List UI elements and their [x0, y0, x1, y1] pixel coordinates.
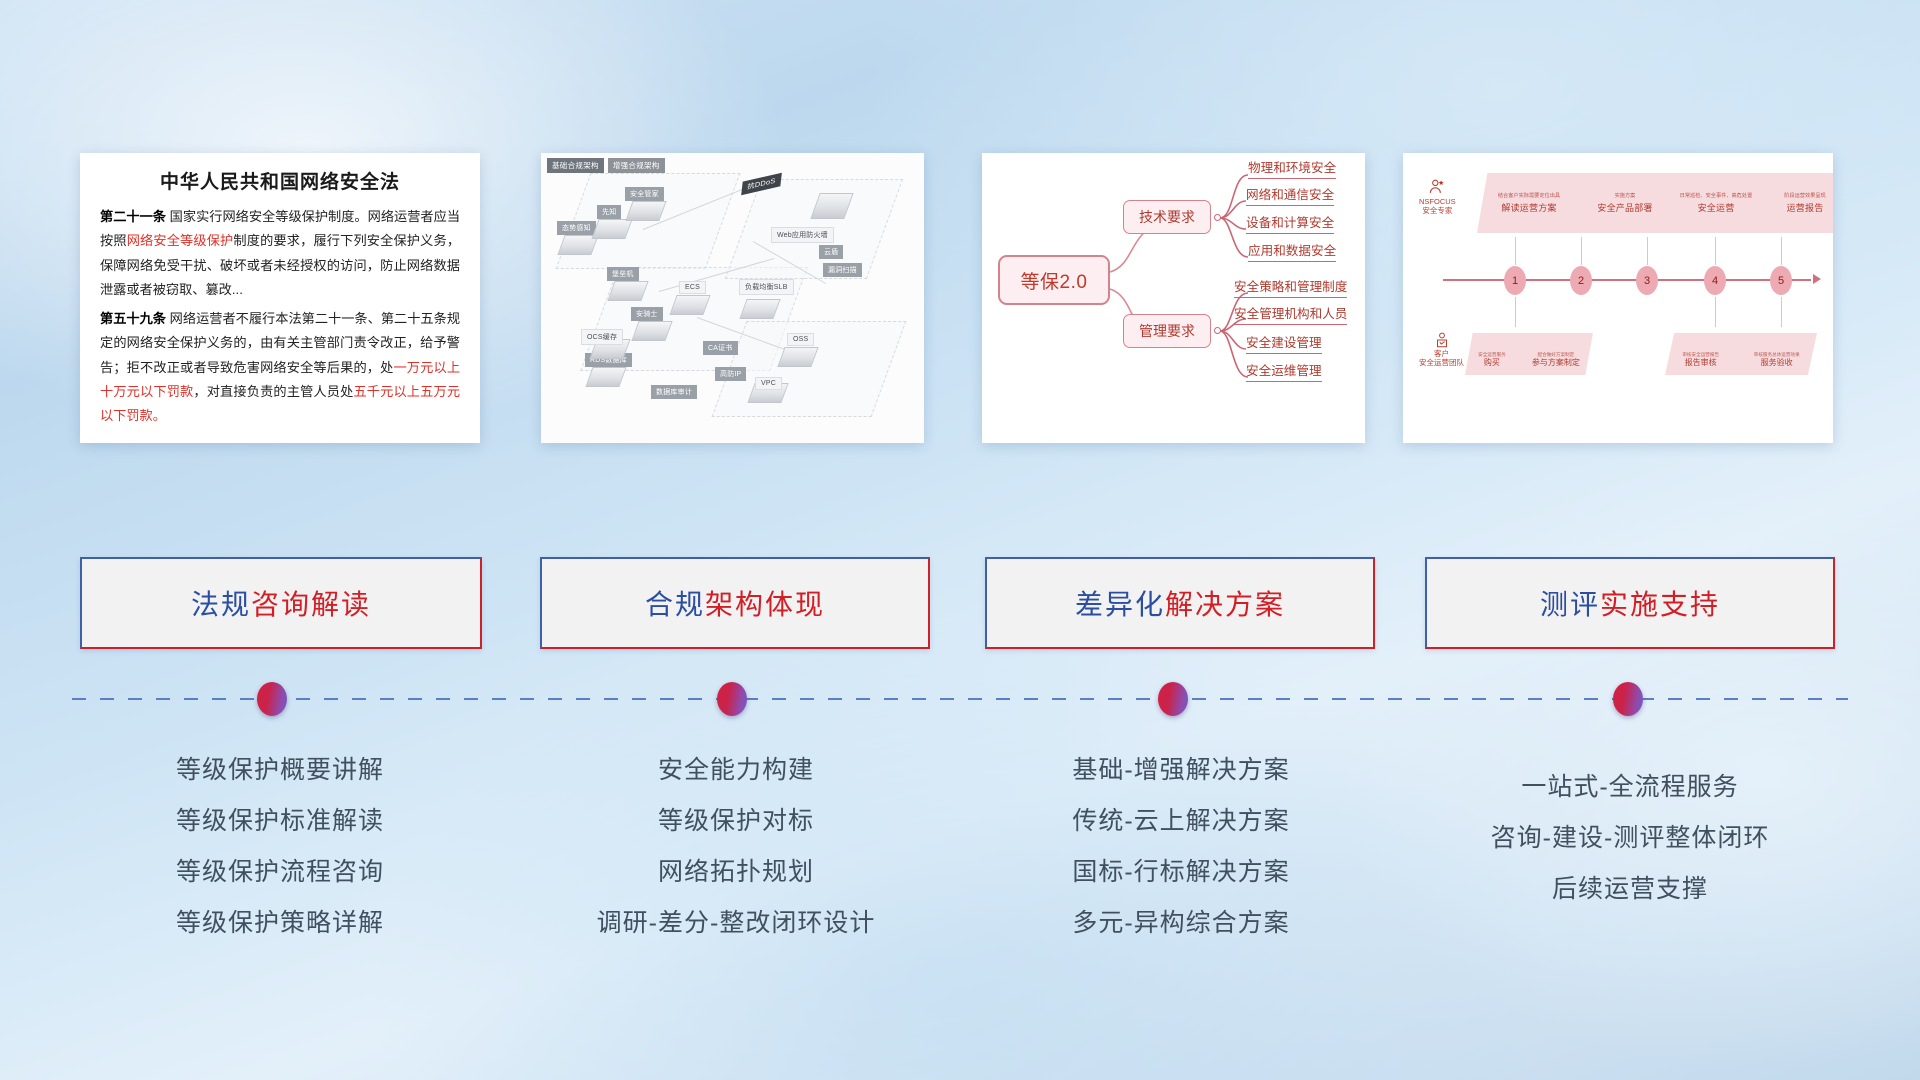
tick-down-4 — [1715, 297, 1716, 327]
header-title-1-blue: 法规 — [191, 589, 251, 620]
card-cloud-architecture: 基础合规架构 增强合规架构 态势感知 先知 — [541, 153, 924, 443]
card-mindmap-dengbao: 等保2.0 技术要求 物理和环境安全 网络和通信安全 设备和计算安全 应用和数据… — [982, 153, 1365, 443]
foot-item-participate: 配合做好方案制定 参与方案制定 — [1532, 352, 1580, 368]
card-service-timeline: NSFOCUS 安全专家 结合客户实际需要定位出具 解读运营方案 实施方案 安全… — [1403, 153, 1833, 443]
node-slb: 负载均衡SLB — [739, 279, 794, 295]
header-boxes-row: 法规咨询解读 合规架构体现 差异化解决方案 测评实施支持 — [0, 557, 1920, 649]
law-article-21: 第二十一条 国家实行网络安全等级保护制度。网络运营者应当按照网络安全等级保护制度… — [100, 205, 460, 303]
list-column-2: 安全能力构建 等级保护对标 网络拓扑规划 调研-差分-整改闭环设计 — [540, 745, 932, 949]
node-bastion-host: 堡垒机 — [607, 267, 639, 281]
header-box-differentiated-solution[interactable]: 差异化解决方案 — [985, 557, 1375, 649]
mindmap-leaf-policy-system: 安全策略和管理制度 — [1234, 280, 1347, 298]
mindmap-leaf-org-personnel: 安全管理机构和人员 — [1234, 307, 1347, 325]
list-item: 等级保护流程咨询 — [80, 847, 480, 898]
article-21-highlight: 网络安全等级保护 — [127, 233, 234, 248]
header-title-4-red: 实施支持 — [1600, 589, 1720, 620]
step-sub-4: 阶段运营效果呈现 — [1784, 192, 1826, 199]
rail-bead-3 — [1158, 682, 1188, 716]
cube-ecs — [669, 295, 710, 315]
article-59-label: 第五十九条 — [100, 311, 166, 326]
cube-bastion — [607, 281, 648, 301]
foot-item-acceptance: 审核服务总体运营效果 服务验收 — [1754, 352, 1800, 368]
node-situational-awareness: 态势感知 — [557, 221, 596, 235]
law-article-59: 第五十九条 网络运营者不履行本法第二十一条、第二十五条规定的网络安全保护义务的，… — [100, 307, 460, 429]
list-item: 咨询-建设-测评整体闭环 — [1424, 813, 1836, 864]
header-title-3-red: 解决方案 — [1165, 589, 1285, 620]
mindmap-dot-technical — [1214, 214, 1221, 221]
law-title: 中华人民共和国网络安全法 — [100, 167, 460, 194]
list-item: 调研-差分-整改闭环设计 — [540, 898, 932, 949]
tick-down-2 — [1515, 297, 1516, 327]
rail-bead-4 — [1613, 682, 1643, 716]
timeline-node-3: 3 — [1636, 266, 1658, 295]
node-cloud-shield: 云盾 — [819, 245, 843, 259]
mindmap-branch-technical: 技术要求 — [1123, 200, 1211, 234]
list-item: 等级保护对标 — [540, 796, 932, 847]
foot-item-acceptance-title: 服务验收 — [1761, 358, 1793, 367]
cube-security-butler — [625, 201, 666, 221]
timeline-dashed-rail — [72, 698, 1848, 700]
service-timeline: NSFOCUS 安全专家 结合客户实际需要定位出具 解读运营方案 实施方案 安全… — [1403, 153, 1833, 443]
node-xianzhi: 先知 — [597, 205, 621, 219]
cube-rds — [585, 367, 626, 387]
header-title-3-blue: 差异化 — [1075, 589, 1165, 620]
list-item: 一站式-全流程服务 — [1424, 762, 1836, 813]
mindmap-leaf-ops-mgmt: 安全运维管理 — [1246, 364, 1322, 382]
header-title-1-red: 咨询解读 — [251, 589, 371, 620]
header-box-compliance-architecture[interactable]: 合规架构体现 — [540, 557, 930, 649]
node-waf: Web应用防火墙 — [771, 227, 834, 243]
timeline-node-5: 5 — [1770, 266, 1792, 295]
step-title-3: 安全运营 — [1698, 201, 1735, 214]
mindmap-dot-management — [1214, 327, 1221, 334]
node-ca-cert: CA证书 — [703, 341, 738, 355]
foot-item-purchase-sub: 安全运营服务 — [1478, 352, 1506, 358]
step-chip-2: 实施方案 安全产品部署 — [1581, 173, 1669, 233]
slide-canvas: 中华人民共和国网络安全法 第二十一条 国家实行网络安全等级保护制度。网络运营者应… — [0, 0, 1920, 1080]
header-title-2-red: 架构体现 — [705, 589, 825, 620]
node-db-audit: 数据库审计 — [651, 385, 697, 399]
tick-up-4 — [1715, 237, 1716, 265]
step-sub-2: 实施方案 — [1615, 192, 1636, 199]
foot-item-participate-title: 参与方案制定 — [1532, 358, 1580, 367]
list-column-3: 基础-增强解决方案 传统-云上解决方案 国标-行标解决方案 多元-异构综合方案 — [985, 745, 1377, 949]
foot-item-report-review-sub: 审核安全运营报告 — [1682, 352, 1719, 358]
architecture-canvas: 态势感知 先知 安全管家 抗DDoS 堡垒机 Web应用防火墙 云盾 漏洞扫描 … — [547, 171, 918, 439]
cube-xianzhi — [591, 219, 632, 239]
header-title-2-blue: 合规 — [645, 589, 705, 620]
list-column-1: 等级保护概要讲解 等级保护标准解读 等级保护流程咨询 等级保护策略详解 — [80, 745, 480, 949]
node-ocs: OCS缓存 — [581, 329, 623, 345]
timeline-foot-left: 安全运营服务 购买 配合做好方案制定 参与方案制定 — [1465, 333, 1593, 375]
timeline-node-2: 2 — [1570, 266, 1592, 295]
list-item: 安全能力构建 — [540, 745, 932, 796]
timeline-node-4: 4 — [1704, 266, 1726, 295]
step-title-4: 运营报告 — [1787, 201, 1824, 214]
step-sub-3: 日常巡检、安全事件、高危处置 — [1680, 192, 1753, 199]
list-item: 国标-行标解决方案 — [985, 847, 1377, 898]
list-item: 基础-增强解决方案 — [985, 745, 1377, 796]
list-item: 传统-云上解决方案 — [985, 796, 1377, 847]
tick-up-5 — [1781, 237, 1782, 265]
mindmap-leaf-construction-mgmt: 安全建设管理 — [1246, 336, 1322, 354]
mindmap-leaf-physical-env: 物理和环境安全 — [1248, 161, 1336, 179]
step-chip-4: 阶段运营效果呈现 运营报告 — [1763, 173, 1833, 233]
article-59-text-b: ，对直接负责的主管人员处 — [193, 384, 353, 399]
node-high-defense-ip: 高防IP — [715, 367, 746, 381]
mindmap-branch-management: 管理要求 — [1123, 314, 1211, 348]
step-title-2: 安全产品部署 — [1597, 201, 1652, 214]
header-title-4-blue: 测评 — [1540, 589, 1600, 620]
mindmap-root-node: 等保2.0 — [998, 255, 1110, 305]
law-text-block: 中华人民共和国网络安全法 第二十一条 国家实行网络安全等级保护制度。网络运营者应… — [80, 153, 480, 439]
node-ecs: ECS — [679, 281, 706, 294]
cards-row: 中华人民共和国网络安全法 第二十一条 国家实行网络安全等级保护制度。网络运营者应… — [0, 153, 1920, 443]
foot-item-report-review: 审核安全运营报告 报告审核 — [1682, 352, 1719, 368]
timeline-foot-right: 审核安全运营报告 报告审核 审核服务总体运营效果 服务验收 — [1665, 333, 1817, 375]
timeline-node-1: 1 — [1504, 266, 1526, 295]
mindmap-leaf-device-compute: 设备和计算安全 — [1246, 216, 1334, 234]
customer-icon — [1433, 331, 1451, 349]
mindmap-leaf-network-comm: 网络和通信安全 — [1246, 188, 1334, 206]
header-box-evaluation-support[interactable]: 测评实施支持 — [1425, 557, 1835, 649]
header-title-2: 合规架构体现 — [645, 583, 825, 623]
node-anqishi: 安骑士 — [631, 307, 663, 321]
step-chip-3: 日常巡检、安全事件、高危处置 安全运营 — [1669, 173, 1763, 233]
node-vpc: VPC — [755, 377, 782, 390]
timeline-top-band: 结合客户实际需要定位出具 解读运营方案 实施方案 安全产品部署 日常巡检、安全事… — [1417, 173, 1819, 233]
header-title-1: 法规咨询解读 — [191, 583, 371, 623]
node-oss: OSS — [787, 333, 814, 346]
customer-role: 客户 — [1434, 349, 1449, 358]
node-security-butler: 安全管家 — [625, 187, 664, 201]
step-chip-1: 结合客户实际需要定位出具 解读运营方案 — [1477, 173, 1581, 233]
rail-bead-2 — [717, 682, 747, 716]
foot-item-purchase: 安全运营服务 购买 — [1478, 352, 1506, 368]
tick-down-5 — [1781, 297, 1782, 327]
list-item: 网络拓扑规划 — [540, 847, 932, 898]
step-title-1: 解读运营方案 — [1501, 201, 1556, 214]
customer-persona: 客户 安全运营团队 — [1419, 331, 1464, 368]
cube-slb — [739, 299, 780, 319]
foot-item-acceptance-sub: 审核服务总体运营效果 — [1754, 352, 1800, 358]
timeline-arrow-icon — [1813, 274, 1821, 284]
list-item: 多元-异构综合方案 — [985, 898, 1377, 949]
cube-oss — [777, 347, 818, 367]
list-item: 等级保护概要讲解 — [80, 745, 480, 796]
tick-up-2 — [1581, 237, 1582, 265]
header-title-4: 测评实施支持 — [1540, 583, 1720, 623]
foot-item-report-review-title: 报告审核 — [1685, 358, 1717, 367]
foot-item-purchase-title: 购买 — [1484, 358, 1500, 367]
customer-sub: 安全运营团队 — [1419, 358, 1464, 367]
mindmap-leaf-app-data: 应用和数据安全 — [1248, 244, 1336, 262]
tick-up-3 — [1647, 237, 1648, 265]
step-sub-1: 结合客户实际需要定位出具 — [1498, 192, 1560, 199]
card-law-document: 中华人民共和国网络安全法 第二十一条 国家实行网络安全等级保护制度。网络运营者应… — [80, 153, 480, 443]
mindmap: 等保2.0 技术要求 物理和环境安全 网络和通信安全 设备和计算安全 应用和数据… — [982, 153, 1365, 443]
list-item: 等级保护标准解读 — [80, 796, 480, 847]
node-vuln-scan: 漏洞扫描 — [823, 263, 862, 277]
tick-up-1 — [1515, 237, 1516, 265]
list-item: 等级保护策略详解 — [80, 898, 480, 949]
header-box-regulation-consulting[interactable]: 法规咨询解读 — [80, 557, 482, 649]
cube-anqishi — [631, 321, 672, 341]
timeline-axis — [1443, 279, 1811, 281]
header-title-3: 差异化解决方案 — [1075, 583, 1285, 623]
foot-item-participate-sub: 配合做好方案制定 — [1532, 352, 1580, 358]
list-item: 后续运营支撑 — [1424, 864, 1836, 915]
architecture-diagram: 基础合规架构 增强合规架构 态势感知 先知 — [541, 153, 924, 443]
rail-bead-1 — [257, 682, 287, 716]
list-column-4: 一站式-全流程服务 咨询-建设-测评整体闭环 后续运营支撑 — [1424, 762, 1836, 915]
article-21-label: 第二十一条 — [100, 209, 166, 224]
